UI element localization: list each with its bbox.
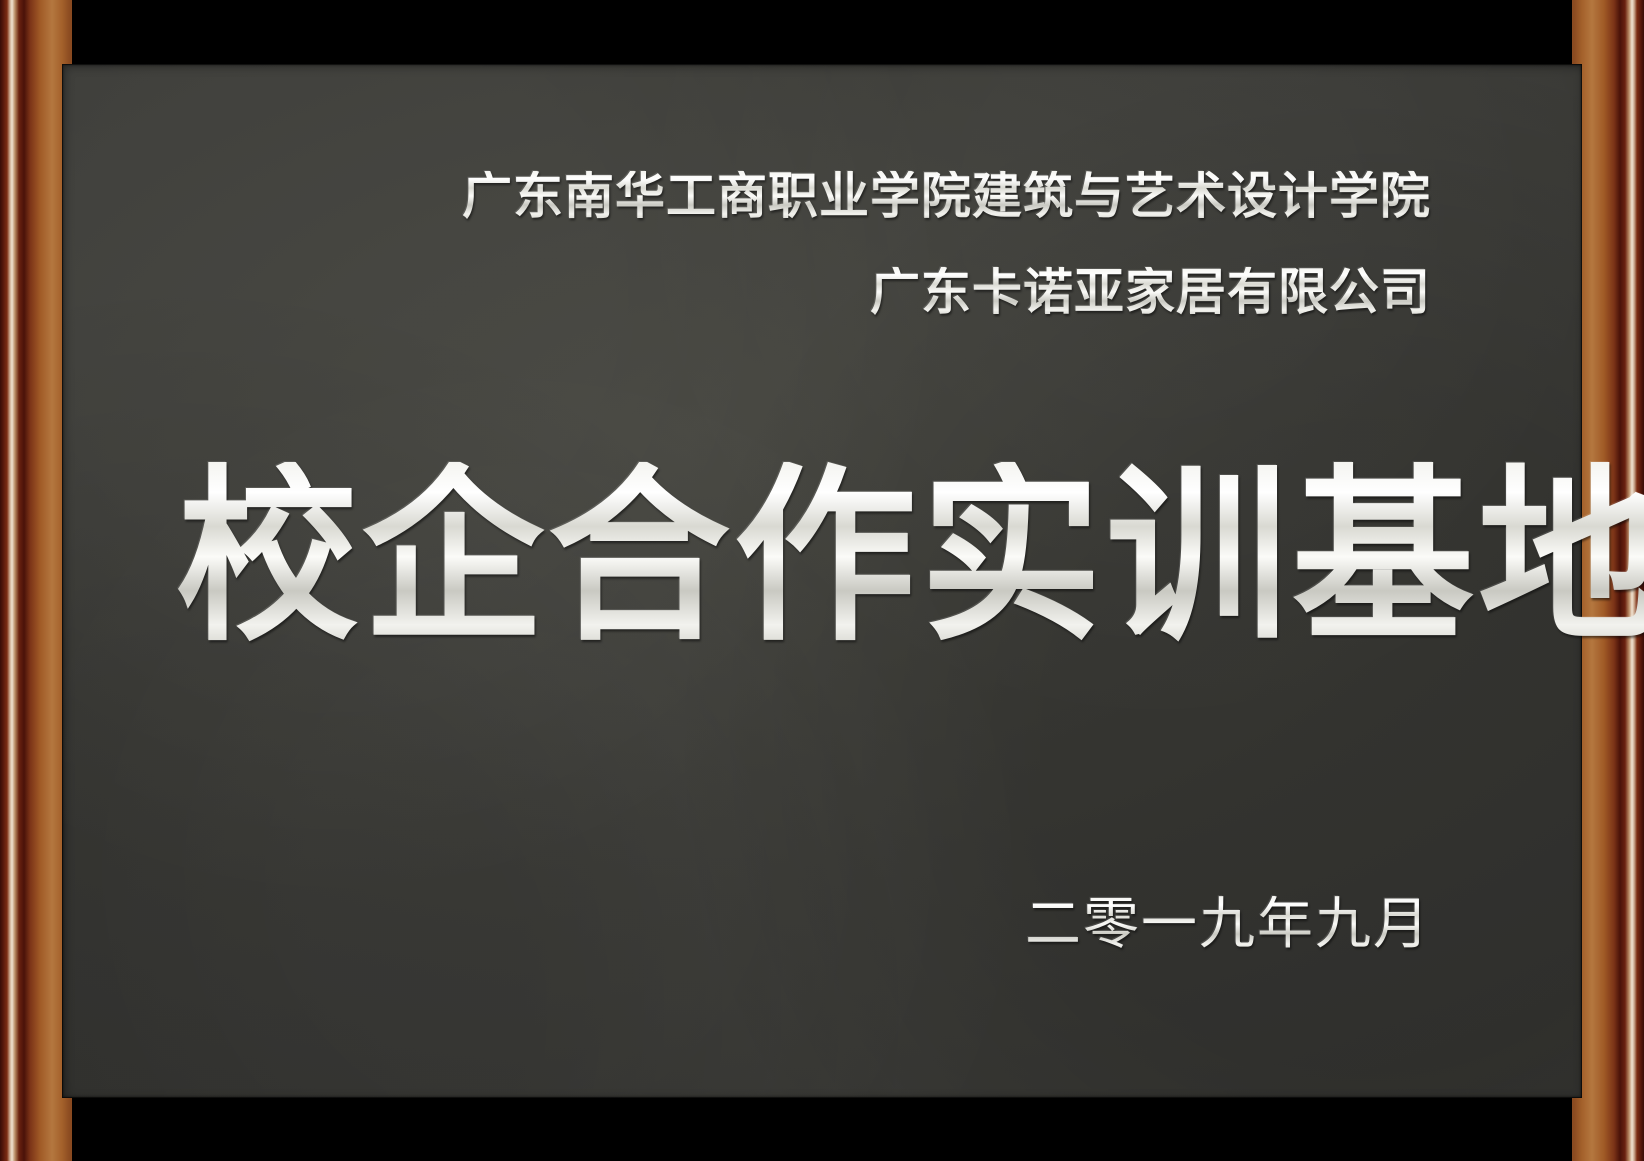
plaque-date: 二零一九年九月 — [1025, 896, 1431, 952]
organization-line-company: 广东卡诺亚家居有限公司 — [870, 267, 1431, 317]
plaque-title: 校企合作实训基地 — [176, 462, 1644, 651]
award-plaque: 广东南华工商职业学院建筑与艺术设计学院 广东卡诺亚家居有限公司 校企合作实训基地… — [0, 0, 1644, 1161]
plaque-content: 广东南华工商职业学院建筑与艺术设计学院 广东卡诺亚家居有限公司 校企合作实训基地… — [0, 0, 1644, 1161]
organization-line-school: 广东南华工商职业学院建筑与艺术设计学院 — [462, 171, 1431, 221]
